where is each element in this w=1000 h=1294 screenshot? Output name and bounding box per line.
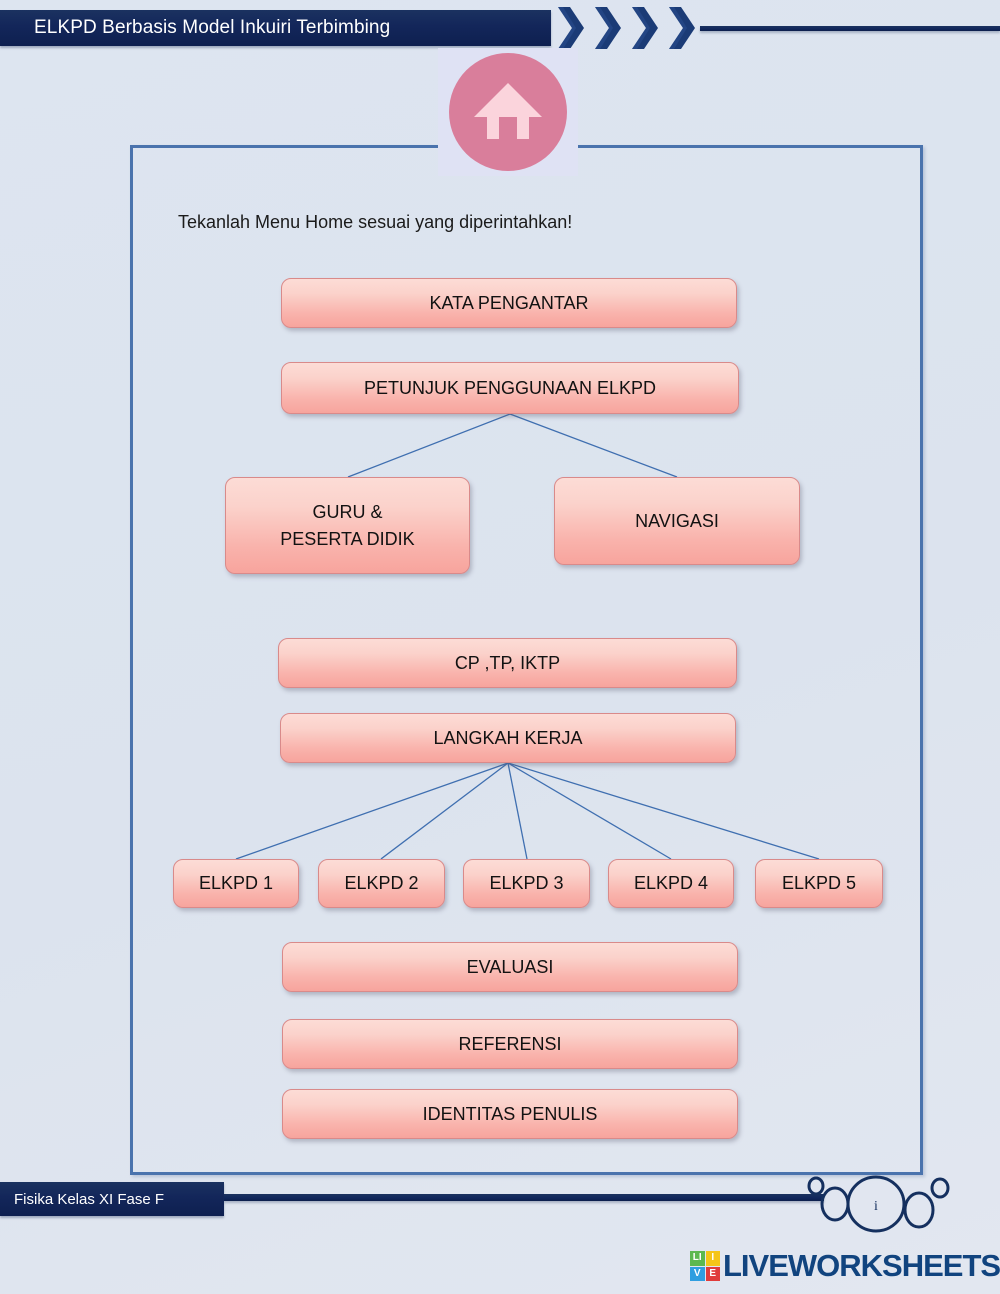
liveworksheets-wordmark: LIVEWORKSHEETS bbox=[723, 1248, 1000, 1284]
menu-button-kata-pengantar[interactable]: KATA PENGANTAR bbox=[281, 278, 737, 328]
home-button[interactable] bbox=[438, 48, 578, 176]
chevron-right-icon bbox=[593, 5, 627, 51]
worksheet-page: ELKPD Berbasis Model Inkuiri Terbimbing … bbox=[0, 0, 1000, 1294]
logo-tile-li: LI bbox=[690, 1251, 705, 1266]
chevron-right-icon bbox=[667, 5, 701, 51]
menu-button-elkpd-4[interactable]: ELKPD 4 bbox=[608, 859, 734, 908]
menu-button-evaluasi[interactable]: EVALUASI bbox=[282, 942, 738, 992]
menu-button-referensi[interactable]: REFERENSI bbox=[282, 1019, 738, 1069]
menu-button-elkpd-1[interactable]: ELKPD 1 bbox=[173, 859, 299, 908]
menu-button-elkpd-2[interactable]: ELKPD 2 bbox=[318, 859, 445, 908]
logo-tile-v: V bbox=[690, 1267, 705, 1282]
footer-band: Fisika Kelas XI Fase F bbox=[0, 1182, 224, 1216]
footer-label: Fisika Kelas XI Fase F bbox=[0, 1191, 164, 1208]
menu-button-identitas-penulis[interactable]: IDENTITAS PENULIS bbox=[282, 1089, 738, 1139]
menu-button-elkpd-3[interactable]: ELKPD 3 bbox=[463, 859, 590, 908]
footer-rule bbox=[224, 1194, 824, 1201]
chevron-right-icon bbox=[630, 5, 664, 51]
menu-button-cp-tp-iktp[interactable]: CP ,TP, IKTP bbox=[278, 638, 737, 688]
page-title: ELKPD Berbasis Model Inkuiri Terbimbing bbox=[0, 17, 390, 39]
home-icon bbox=[471, 77, 545, 147]
liveworksheets-logo: LI I V E LIVEWORKSHEETS bbox=[690, 1248, 1000, 1284]
page-number-label: i bbox=[874, 1199, 878, 1214]
page-indicator: i bbox=[802, 1174, 962, 1240]
chevron-right-icon bbox=[556, 5, 590, 51]
logo-tile-i: I bbox=[706, 1251, 721, 1266]
logo-tile-e: E bbox=[706, 1267, 721, 1282]
menu-button-navigasi[interactable]: NAVIGASI bbox=[554, 477, 800, 565]
menu-button-guru-peserta-didik[interactable]: GURU & PESERTA DIDIK bbox=[225, 477, 470, 574]
menu-button-langkah-kerja[interactable]: LANGKAH KERJA bbox=[280, 713, 736, 763]
instruction-text: Tekanlah Menu Home sesuai yang diperinta… bbox=[178, 212, 572, 233]
menu-button-elkpd-5[interactable]: ELKPD 5 bbox=[755, 859, 883, 908]
liveworksheets-tiles: LI I V E bbox=[690, 1251, 720, 1281]
header-rule bbox=[700, 26, 1000, 31]
menu-button-petunjuk-penggunaan[interactable]: PETUNJUK PENGGUNAAN ELKPD bbox=[281, 362, 739, 414]
home-icon-circle bbox=[449, 53, 567, 171]
header-title-band: ELKPD Berbasis Model Inkuiri Terbimbing bbox=[0, 10, 551, 46]
